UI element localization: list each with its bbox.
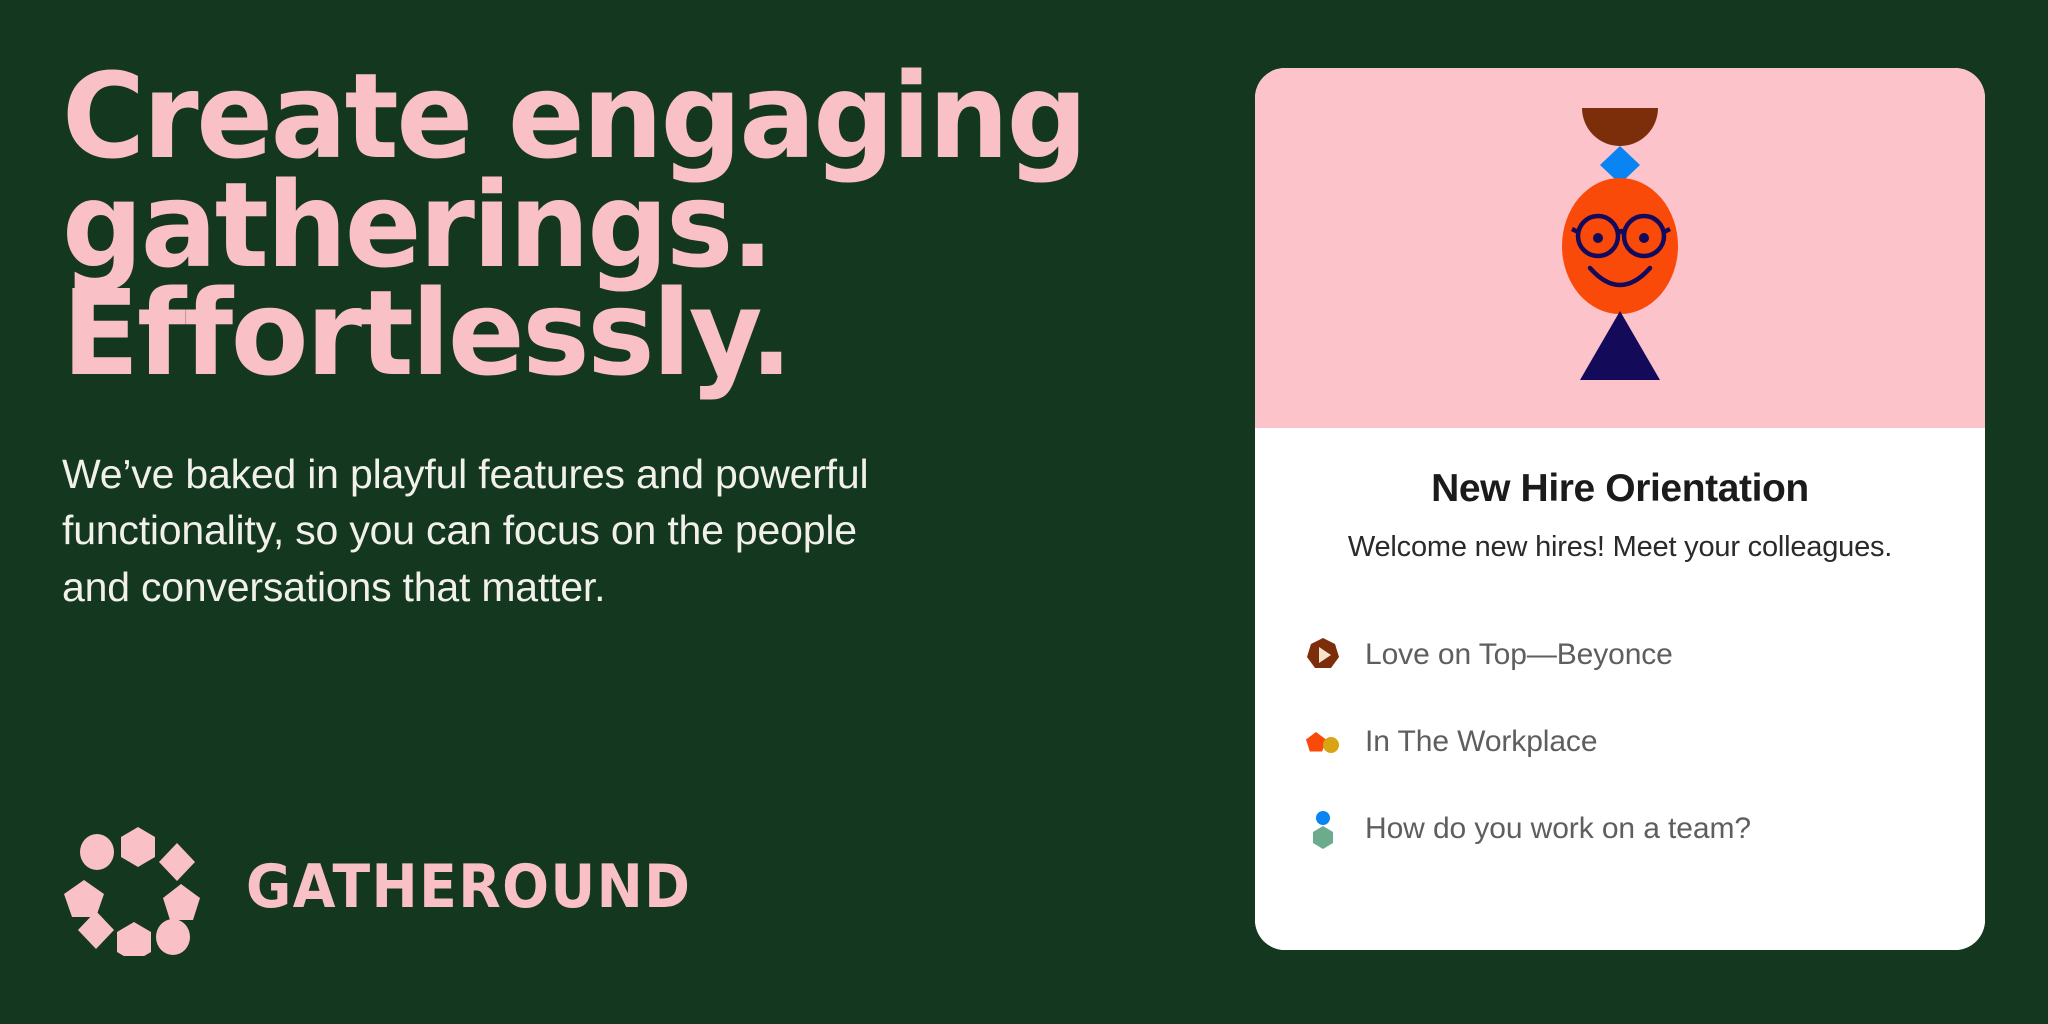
page-title: Create engaging gatherings. Effortlessly… bbox=[62, 62, 1137, 388]
list-item-label: Love on Top—Beyonce bbox=[1365, 638, 1673, 672]
left-pupil bbox=[1593, 233, 1603, 243]
person-hexagon-icon bbox=[1303, 809, 1343, 849]
brown-bowl-hat bbox=[1582, 108, 1658, 146]
headline-line-1: Create engaging bbox=[62, 62, 1137, 171]
list-item[interactable]: Love on Top—Beyonce bbox=[1299, 612, 1941, 699]
headline-line-2: gatherings. bbox=[62, 171, 1137, 280]
brand-logo[interactable]: GATHEROUND bbox=[62, 818, 730, 956]
brand-wordmark: GATHEROUND bbox=[246, 852, 691, 922]
list-item-label: How do you work on a team? bbox=[1365, 812, 1751, 846]
card-hero-banner bbox=[1255, 68, 1985, 428]
hero-subcopy: We’ve baked in playful features and powe… bbox=[62, 446, 892, 616]
gatheround-dots-circle-icon bbox=[62, 818, 200, 956]
card-body: New Hire Orientation Welcome new hires! … bbox=[1255, 428, 1985, 950]
right-pupil bbox=[1639, 233, 1649, 243]
card-title: New Hire Orientation bbox=[1299, 468, 1941, 511]
headline-line-3: Effortlessly. bbox=[62, 279, 1137, 388]
list-item[interactable]: How do you work on a team? bbox=[1299, 786, 1941, 873]
agenda-list: Love on Top—Beyonce In The Workplace bbox=[1299, 612, 1941, 873]
card-subtitle: Welcome new hires! Meet your colleagues. bbox=[1299, 531, 1941, 564]
list-item-label: In The Workplace bbox=[1365, 725, 1597, 759]
navy-triangle-body bbox=[1580, 311, 1660, 380]
list-item[interactable]: In The Workplace bbox=[1299, 699, 1941, 786]
play-heptagon-icon bbox=[1303, 635, 1343, 675]
pentagon-circle-icon bbox=[1303, 722, 1343, 762]
event-preview-card[interactable]: New Hire Orientation Welcome new hires! … bbox=[1255, 68, 1985, 950]
avatar-character-icon bbox=[1490, 68, 1750, 393]
